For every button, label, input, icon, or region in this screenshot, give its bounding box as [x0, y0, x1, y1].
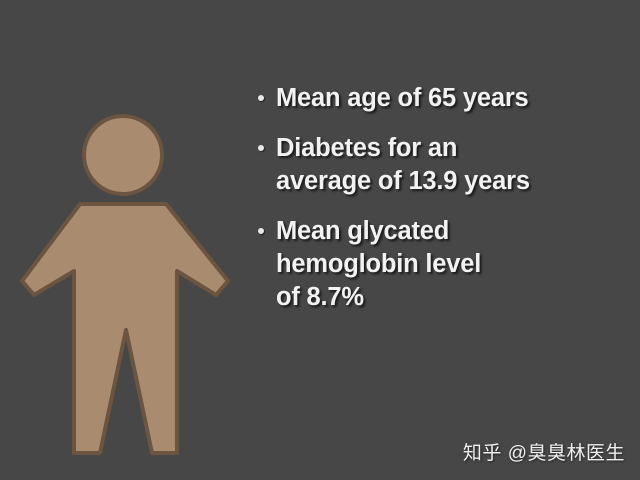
- person-pictogram-icon: [0, 60, 250, 480]
- bullet-dot-icon: [258, 215, 276, 234]
- bullet-dot-icon: [258, 132, 276, 151]
- bullet-line: of 8.7%: [276, 281, 630, 314]
- bullet-list: Mean age of 65 years Diabetes for an ave…: [258, 82, 630, 331]
- watermark: 知乎 @臭臭林医生: [463, 443, 625, 465]
- bullet-item-2: Diabetes for an average of 13.9 years: [258, 132, 630, 198]
- bullet-line: Mean glycated: [276, 215, 630, 248]
- bullet-line: Diabetes for an: [276, 132, 630, 165]
- bullet-line: average of 13.9 years: [276, 165, 630, 198]
- bullet-item-1-text: Mean age of 65 years: [276, 82, 630, 115]
- bullet-line: Mean age of 65 years: [276, 82, 630, 115]
- person-pictogram-shape: [22, 116, 228, 453]
- bullet-line: hemoglobin level: [276, 248, 630, 281]
- bullet-item-2-text: Diabetes for an average of 13.9 years: [276, 132, 630, 198]
- bullet-item-1: Mean age of 65 years: [258, 82, 630, 115]
- bullet-item-3: Mean glycated hemoglobin level of 8.7%: [258, 215, 630, 314]
- bullet-dot-icon: [258, 82, 276, 101]
- bullet-item-3-text: Mean glycated hemoglobin level of 8.7%: [276, 215, 630, 314]
- slide-canvas: Mean age of 65 years Diabetes for an ave…: [0, 0, 640, 480]
